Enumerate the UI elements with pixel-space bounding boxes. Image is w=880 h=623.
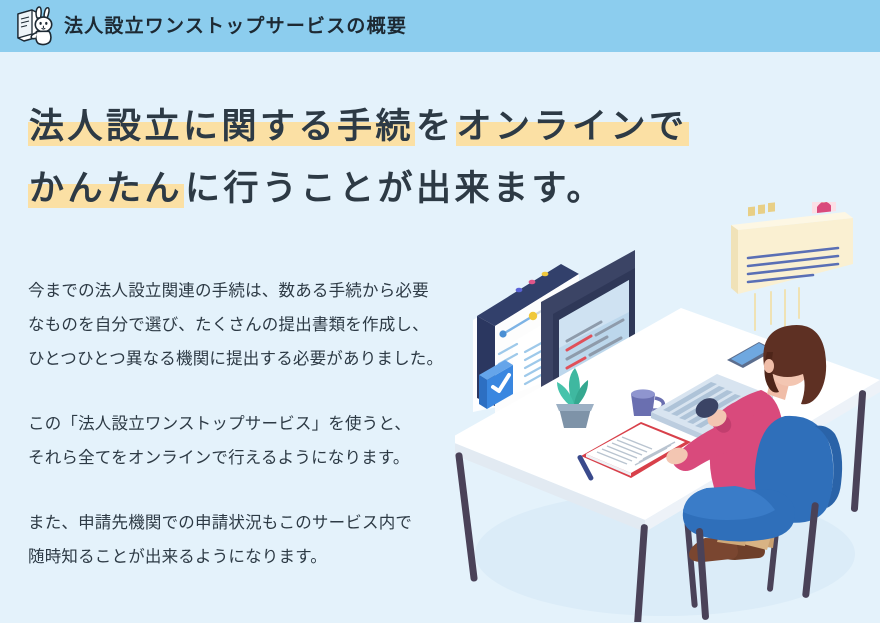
illustration-woman-at-desk [455, 202, 880, 622]
paragraph-2: この「法人設立ワンストップサービス」を使うと、 それら全てをオンラインで行えるよ… [28, 407, 498, 475]
headline-seg-2a: かんたん [28, 169, 184, 208]
page-content: 法人設立に関する手続をオンラインで かんたんに行うことが出来ます。 今までの法人… [0, 52, 880, 623]
paragraph-3-line-1: また、申請先機関での申請状況もこのサービス内で [28, 514, 412, 532]
paragraph-1-line-2: なものを自分で選び、たくさんの提出書類を作成し、 [28, 316, 429, 334]
rabbit-mascot-icon [14, 5, 58, 47]
body-copy: 今までの法人設立関連の手続は、数ある手続から必要 なものを自分で選び、たくさんの… [28, 274, 498, 574]
page-root: 法人設立ワンストップサービスの概要 法人設立に関する手続をオンラインで かんたん… [0, 0, 880, 623]
paragraph-1: 今までの法人設立関連の手続は、数ある手続から必要 なものを自分で選び、たくさんの… [28, 274, 498, 376]
paragraph-1-line-1: 今までの法人設立関連の手続は、数ある手続から必要 [28, 282, 429, 300]
page-title: 法人設立ワンストップサービスの概要 [64, 17, 407, 36]
headline-seg-1c: オンラインで [456, 107, 689, 146]
paragraph-3: また、申請先機関での申請状況もこのサービス内で 随時知ることが出来るようになりま… [28, 506, 498, 574]
headline-seg-1a: 法人設立に関する手続 [28, 107, 415, 146]
headline-line-1: 法人設立に関する手続をオンラインで [28, 96, 668, 158]
id-card [731, 202, 853, 339]
paragraph-2-line-2: それら全てをオンラインで行えるようになります。 [28, 449, 410, 467]
page-header: 法人設立ワンストップサービスの概要 [0, 0, 880, 52]
paragraph-3-line-2: 随時知ることが出来るようになります。 [28, 548, 327, 566]
headline-seg-1b: を [415, 107, 456, 146]
paragraph-1-line-3: ひとつひとつ異なる機関に提出する必要がありました。 [28, 350, 443, 368]
paragraph-2-line-1: この「法人設立ワンストップサービス」を使うと、 [28, 415, 411, 433]
